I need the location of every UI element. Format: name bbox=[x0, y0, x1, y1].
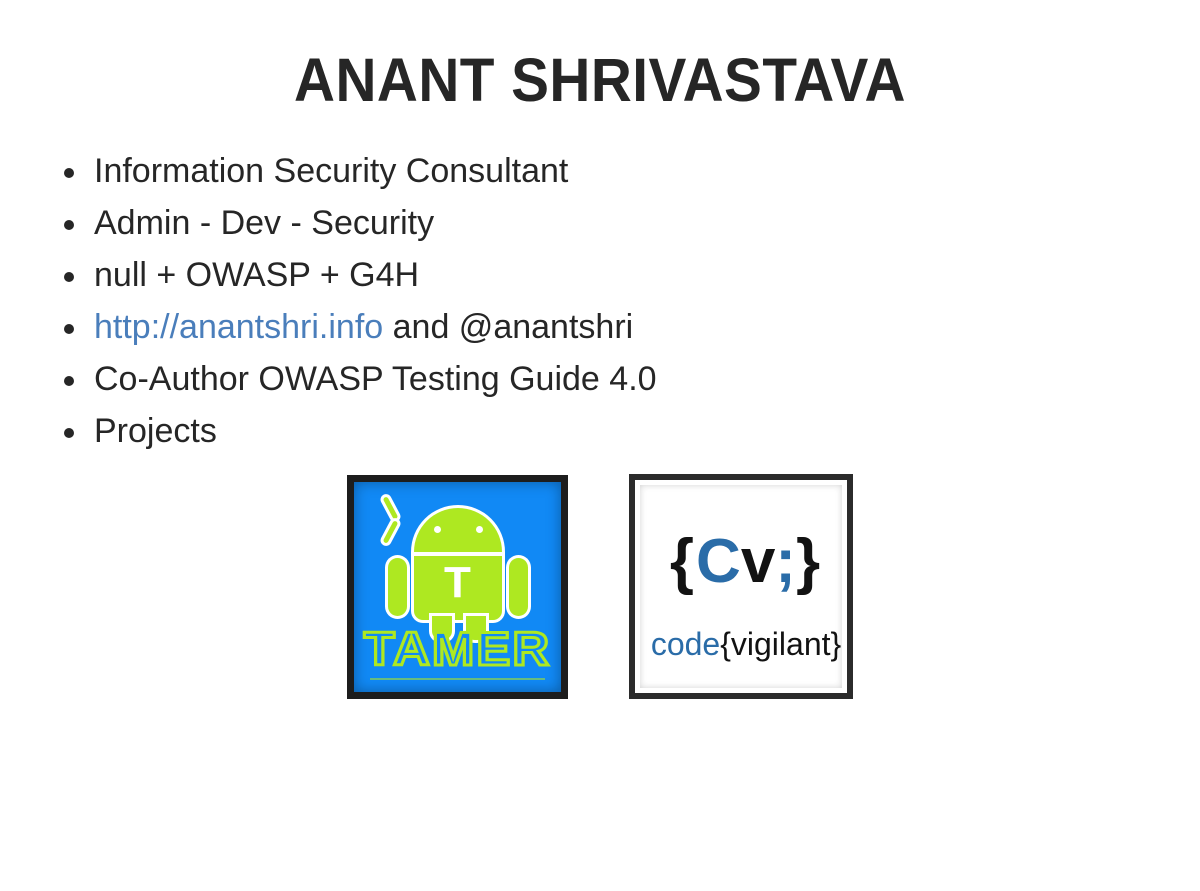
list-item: Information Security Consultant bbox=[60, 146, 1120, 198]
page-title: ANANT SHRIVASTAVA bbox=[42, 44, 1158, 116]
android-eye-left-icon bbox=[434, 526, 441, 533]
cv-semicolon: ; bbox=[775, 527, 796, 596]
bullet-list: Information Security Consultant Admin - … bbox=[60, 146, 1120, 458]
list-item: null + OWASP + G4H bbox=[60, 250, 1120, 302]
android-head-icon bbox=[414, 508, 502, 552]
tamer-body-letter: T bbox=[414, 558, 502, 608]
bullet-text: null + OWASP + G4H bbox=[94, 256, 419, 294]
list-item: http://anantshri.info and @anantshri bbox=[60, 302, 1120, 354]
cv-letter-v: v bbox=[741, 527, 775, 596]
twitter-handle-text: and @anantshri bbox=[383, 308, 633, 346]
list-item: Projects bbox=[60, 406, 1120, 458]
slide: ANANT SHRIVASTAVA Information Security C… bbox=[0, 0, 1200, 891]
android-robot-icon: T bbox=[388, 496, 528, 628]
codevigilant-inner-panel: {Cv;} code{vigilant} bbox=[640, 485, 842, 688]
cv-word-vigilant: {vigilant} bbox=[720, 626, 841, 662]
tamer-wordmark: TAMER bbox=[347, 624, 568, 674]
website-link[interactable]: http://anantshri.info bbox=[94, 308, 383, 346]
android-arm-left-icon bbox=[388, 558, 407, 616]
cv-close-brace: } bbox=[796, 527, 822, 596]
bullet-text: Projects bbox=[94, 412, 217, 450]
cv-word-code: code bbox=[651, 626, 720, 662]
tamer-logo: T TAMER bbox=[347, 475, 568, 699]
cv-open-brace: { bbox=[670, 527, 696, 596]
bullet-text: Admin - Dev - Security bbox=[94, 204, 434, 242]
bullet-text: Co-Author OWASP Testing Guide 4.0 bbox=[94, 360, 657, 398]
android-antenna-left-icon bbox=[382, 496, 398, 520]
list-item: Admin - Dev - Security bbox=[60, 198, 1120, 250]
list-item: Co-Author OWASP Testing Guide 4.0 bbox=[60, 354, 1120, 406]
codevigilant-logo: {Cv;} code{vigilant} bbox=[629, 474, 853, 699]
codevigilant-wordmark: code{vigilant} bbox=[640, 625, 852, 663]
android-antenna-right-icon bbox=[382, 520, 398, 544]
cv-letter-c: C bbox=[696, 527, 741, 596]
android-arm-right-icon bbox=[509, 558, 528, 616]
tamer-underline bbox=[370, 678, 545, 680]
bullet-text: Information Security Consultant bbox=[94, 152, 568, 190]
android-eye-right-icon bbox=[476, 526, 483, 533]
codevigilant-monogram: {Cv;} bbox=[640, 527, 852, 597]
